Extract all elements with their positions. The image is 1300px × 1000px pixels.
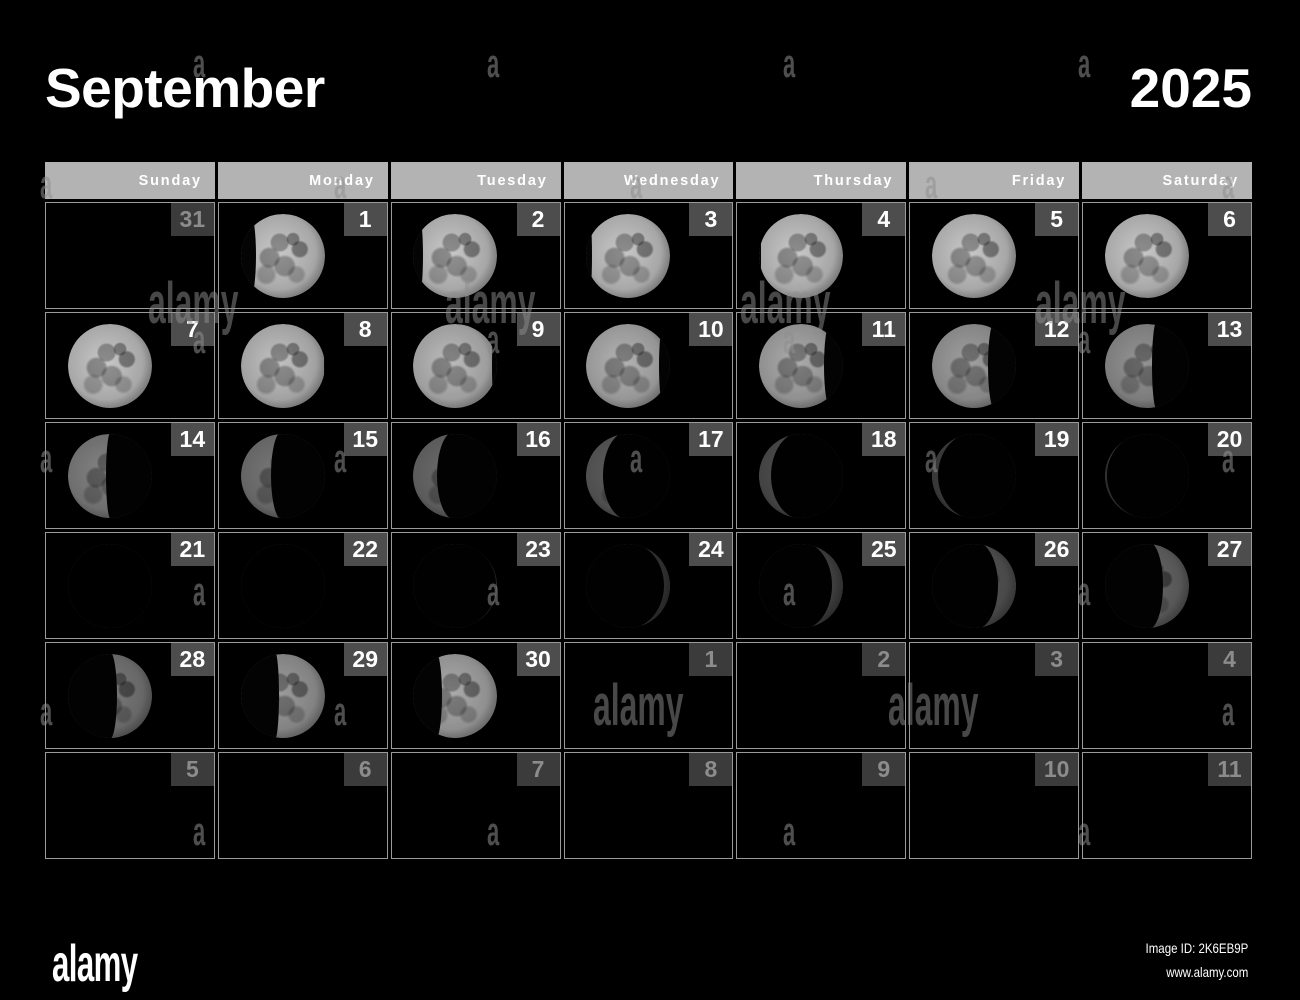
moon-phase-new [241,544,325,628]
moon-phase-waxing-crescent [1105,544,1189,628]
footer-meta: Image ID: 2K6EB9P www.alamy.com [1123,936,1248,984]
footer-bar: alamy Image ID: 2K6EB9P www.alamy.com [0,922,1300,1000]
moon-phase-waning-gibbous [586,324,670,408]
moon-disc [759,434,843,518]
moon-disc [586,544,670,628]
moon-disc [413,544,497,628]
date-number: 12 [1044,318,1070,341]
moon-limb-shading [586,214,670,298]
moon-disc [586,434,670,518]
moon-phase-waxing-gibbous [241,214,325,298]
date-number: 9 [532,318,545,341]
moon-phase-waning-gibbous [932,324,1016,408]
week-row: 21222324252627 [45,532,1252,639]
day-cell[interactable]: 11 [1082,752,1252,859]
day-cell[interactable]: 11 [736,312,906,419]
day-cell[interactable]: 10 [564,312,734,419]
day-cell[interactable]: 20 [1082,422,1252,529]
moon-phase-waxing-gibbous [413,214,497,298]
day-cell[interactable]: 15 [218,422,388,529]
date-number: 7 [186,318,199,341]
moon-disc [241,214,325,298]
weekday-header-monday: Monday [218,162,388,199]
date-badge: 26 [1035,533,1078,566]
moon-disc [1105,434,1189,518]
date-number: 19 [1044,428,1070,451]
day-cell[interactable]: 1 [564,642,734,749]
date-badge: 23 [517,533,560,566]
date-number: 2 [877,648,890,671]
moon-disc [413,214,497,298]
date-number: 15 [352,428,378,451]
date-badge: 27 [1208,533,1251,566]
moon-disc [68,324,152,408]
day-cell[interactable]: 17 [564,422,734,529]
day-cell[interactable]: 26 [909,532,1079,639]
moon-phase-waning-gibbous [1105,324,1189,408]
moon-phase-full [1105,214,1189,298]
day-cell[interactable]: 23 [391,532,561,639]
date-number: 4 [877,208,890,231]
moon-disc [759,544,843,628]
date-number: 24 [698,538,724,561]
date-badge: 7 [517,753,560,786]
date-number: 26 [1044,538,1070,561]
week-row: 2829301234 [45,642,1252,749]
moon-dimming-overlay [241,544,325,628]
moon-limb-shading [759,214,843,298]
date-number: 9 [877,758,890,781]
date-badge: 22 [344,533,387,566]
date-badge: 29 [344,643,387,676]
date-number: 29 [352,648,378,671]
moon-phase-waning-gibbous [759,324,843,408]
moon-dimming-overlay [932,544,1016,628]
moon-dimming-overlay [68,434,152,518]
moon-phase-waxing-crescent [586,544,670,628]
date-badge: 10 [1035,753,1078,786]
date-badge: 1 [689,643,732,676]
week-row: 567891011 [45,752,1252,859]
date-number: 11 [872,318,896,341]
moon-phase-waning-gibbous [241,324,325,408]
moon-disc [1105,544,1189,628]
alamy-logo: alamy [52,934,137,994]
day-cell[interactable]: 5 [909,202,1079,309]
date-badge: 11 [862,313,905,346]
weekday-header-tuesday: Tuesday [391,162,561,199]
weekday-label: Sunday [139,173,202,189]
date-number: 17 [698,428,724,451]
moon-terminator-shadow [413,214,423,298]
moon-phase-waxing-gibbous [413,654,497,738]
date-number: 5 [1050,208,1063,231]
day-cell[interactable]: 29 [218,642,388,749]
moon-phase-first-quarter [68,654,152,738]
date-number: 22 [352,538,378,561]
moon-phase-waning-crescent [1105,434,1189,518]
moon-disc [1105,214,1189,298]
date-number: 2 [532,208,545,231]
moon-phase-waning-crescent [413,434,497,518]
date-badge: 30 [517,643,560,676]
weekday-header-saturday: Saturday [1082,162,1252,199]
date-badge: 3 [1035,643,1078,676]
date-number: 8 [705,758,718,781]
day-cell[interactable]: 14 [45,422,215,529]
moon-dimming-overlay [413,654,497,738]
day-cell[interactable]: 9 [391,312,561,419]
day-cell[interactable]: 31 [45,202,215,309]
moon-phase-waxing-crescent [413,544,497,628]
moon-dimming-overlay [932,434,1016,518]
moon-phase-waning-gibbous [413,324,497,408]
date-number: 3 [1050,648,1063,671]
moon-disc [932,214,1016,298]
image-id-label: Image ID: 2K6EB9P [1145,936,1248,960]
moon-limb-shading [413,214,497,298]
moon-phase-waxing-gibbous [241,654,325,738]
weekday-header-row: SundayMondayTuesdayWednesdayThursdayFrid… [45,162,1252,199]
moon-phase-waxing-crescent [759,544,843,628]
date-badge: 19 [1035,423,1078,456]
weekday-label: Friday [1012,173,1066,189]
day-cell[interactable]: 21 [45,532,215,639]
date-badge: 9 [862,753,905,786]
date-badge: 6 [344,753,387,786]
weekday-label: Tuesday [477,173,547,189]
day-cell[interactable]: 6 [1082,202,1252,309]
day-cell[interactable]: 2 [736,642,906,749]
weekday-label: Monday [309,173,375,189]
moon-dimming-overlay [68,544,152,628]
date-number: 13 [1217,318,1243,341]
moon-disc [586,324,670,408]
date-number: 27 [1217,538,1243,561]
weekday-header-wednesday: Wednesday [564,162,734,199]
moon-dimming-overlay [241,324,325,408]
day-cell[interactable]: 3 [564,202,734,309]
day-cell[interactable]: 8 [564,752,734,859]
date-number: 11 [1217,758,1241,781]
date-number: 4 [1223,648,1236,671]
date-number: 7 [532,758,545,781]
weekday-header-thursday: Thursday [736,162,906,199]
weekday-label: Wednesday [624,173,721,189]
day-cell[interactable]: 4 [736,202,906,309]
date-badge: 9 [517,313,560,346]
date-badge: 16 [517,423,560,456]
date-number: 6 [1223,208,1236,231]
moon-dimming-overlay [759,544,843,628]
moon-phase-waxing-gibbous [586,214,670,298]
calendar-title-bar: September 2025 [45,52,1252,124]
date-number: 21 [180,538,206,561]
moon-dimming-overlay [759,324,843,408]
date-number: 23 [525,538,551,561]
moon-dimming-overlay [241,434,325,518]
day-cell[interactable]: 13 [1082,312,1252,419]
date-badge: 25 [862,533,905,566]
day-cell[interactable]: 5 [45,752,215,859]
date-badge: 7 [171,313,214,346]
day-cell[interactable]: 9 [736,752,906,859]
moon-dimming-overlay [1105,544,1189,628]
weekday-header-friday: Friday [909,162,1079,199]
day-cell[interactable]: 16 [391,422,561,529]
moon-disc [241,544,325,628]
day-cell[interactable]: 7 [45,312,215,419]
moon-limb-shading [932,214,1016,298]
date-number: 6 [359,758,372,781]
day-cell[interactable]: 2 [391,202,561,309]
date-badge: 2 [517,203,560,236]
date-badge: 20 [1208,423,1251,456]
moon-dimming-overlay [1105,324,1189,408]
date-number: 18 [871,428,897,451]
day-cell[interactable]: 3 [909,642,1079,749]
weekday-header-sunday: Sunday [45,162,215,199]
moon-disc [932,434,1016,518]
date-badge: 5 [171,753,214,786]
moon-disc [586,214,670,298]
moon-phase-last-quarter [68,434,152,518]
day-cell[interactable]: 8 [218,312,388,419]
date-badge: 4 [1208,643,1251,676]
moon-dimming-overlay [68,654,152,738]
moon-limb-shading [68,324,152,408]
moon-disc [68,544,152,628]
moon-dimming-overlay [586,324,670,408]
moon-dimming-overlay [759,434,843,518]
day-cell[interactable]: 30 [391,642,561,749]
date-number: 10 [698,318,724,341]
date-badge: 13 [1208,313,1251,346]
moon-disc [413,434,497,518]
week-row: 14151617181920 [45,422,1252,529]
calendar-grid: SundayMondayTuesdayWednesdayThursdayFrid… [45,162,1252,859]
moon-phase-full [68,324,152,408]
moon-disc [68,654,152,738]
moon-disc [932,544,1016,628]
moon-terminator-shadow [586,214,591,298]
date-badge: 11 [1208,753,1251,786]
moon-disc [413,324,497,408]
day-cell[interactable]: 27 [1082,532,1252,639]
date-badge: 4 [862,203,905,236]
moon-disc [759,324,843,408]
week-row: 78910111213 [45,312,1252,419]
moon-phase-waxing-crescent [932,544,1016,628]
week-row: 31123456 [45,202,1252,309]
moon-dimming-overlay [586,544,670,628]
moon-dimming-overlay [241,654,325,738]
moon-disc [241,654,325,738]
moon-disc [68,434,152,518]
date-badge: 18 [862,423,905,456]
day-cell[interactable]: 12 [909,312,1079,419]
weekday-label: Thursday [814,173,894,189]
date-badge: 6 [1208,203,1251,236]
day-cell[interactable]: 7 [391,752,561,859]
date-badge: 21 [171,533,214,566]
day-cell[interactable]: 6 [218,752,388,859]
moon-disc [241,324,325,408]
date-number: 1 [705,648,718,671]
date-badge: 8 [689,753,732,786]
date-number: 16 [525,428,551,451]
day-cell[interactable]: 10 [909,752,1079,859]
date-number: 1 [359,208,372,231]
date-number: 31 [180,208,206,231]
day-cell[interactable]: 1 [218,202,388,309]
date-badge: 5 [1035,203,1078,236]
date-badge: 24 [689,533,732,566]
moon-terminator-shadow [759,214,761,298]
date-badge: 15 [344,423,387,456]
moon-phase-waning-crescent [241,434,325,518]
moon-phase-waning-crescent [586,434,670,518]
day-cell[interactable]: 22 [218,532,388,639]
date-number: 25 [871,538,897,561]
moon-phase-new [68,544,152,628]
date-badge: 31 [171,203,214,236]
moon-disc [413,654,497,738]
day-cell[interactable]: 24 [564,532,734,639]
website-label[interactable]: www.alamy.com [1145,960,1248,984]
date-badge: 8 [344,313,387,346]
day-cell[interactable]: 19 [909,422,1079,529]
moon-phase-waning-crescent [932,434,1016,518]
date-badge: 12 [1035,313,1078,346]
date-badge: 17 [689,423,732,456]
moon-phase-waxing-gibbous [759,214,843,298]
day-cell[interactable]: 18 [736,422,906,529]
moon-phase-waning-crescent [759,434,843,518]
date-number: 20 [1217,428,1243,451]
day-cell[interactable]: 25 [736,532,906,639]
date-badge: 3 [689,203,732,236]
date-number: 14 [180,428,206,451]
date-badge: 1 [344,203,387,236]
moon-disc [1105,324,1189,408]
date-number: 8 [359,318,372,341]
calendar-weeks: 3112345678910111213141516171819202122232… [45,202,1252,859]
date-number: 3 [705,208,718,231]
date-badge: 14 [171,423,214,456]
moon-terminator-shadow [241,214,257,298]
date-number: 28 [180,648,206,671]
date-number: 30 [525,648,551,671]
moon-disc [241,434,325,518]
moon-dimming-overlay [413,544,497,628]
date-badge: 10 [689,313,732,346]
year-title: 2025 [1130,61,1252,116]
moon-dimming-overlay [413,434,497,518]
moon-limb-shading [1105,214,1189,298]
moon-disc [759,214,843,298]
day-cell[interactable]: 4 [1082,642,1252,749]
date-number: 10 [1044,758,1070,781]
day-cell[interactable]: 28 [45,642,215,749]
moon-dimming-overlay [413,324,497,408]
moon-dimming-overlay [932,324,1016,408]
moon-phase-waxing-gibbous [932,214,1016,298]
moon-dimming-overlay [1105,434,1189,518]
date-badge: 2 [862,643,905,676]
moon-disc [932,324,1016,408]
date-badge: 28 [171,643,214,676]
date-number: 5 [186,758,199,781]
month-title: September [45,61,325,116]
moon-dimming-overlay [586,434,670,518]
weekday-label: Saturday [1163,173,1239,189]
